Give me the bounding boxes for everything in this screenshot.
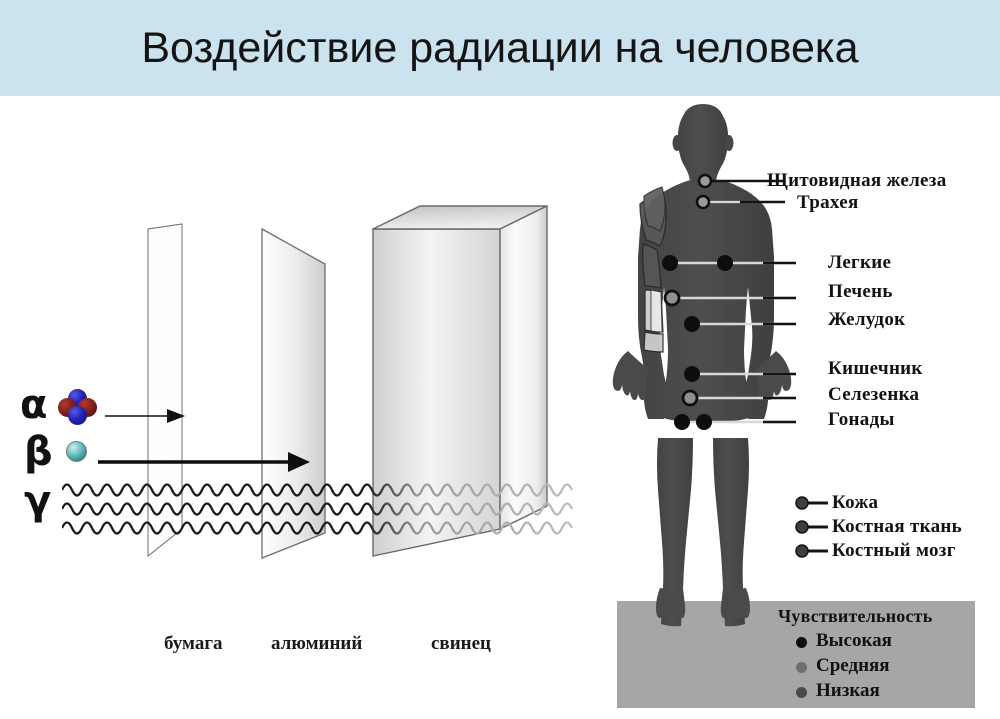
slide-root: Воздействие радиации на человека — [0, 0, 1000, 719]
alpha-arrow-icon — [105, 404, 195, 428]
barrier-label-paper: бумага — [164, 633, 222, 655]
tissue-label-bone: Костная ткань — [832, 516, 962, 538]
body-sensitivity-diagram: Щитовидная железа Трахея Легкие Печень Ж… — [600, 96, 1000, 719]
beta-arrow-icon — [98, 449, 318, 475]
organ-label-thyroid: Щитовидная железа — [767, 170, 947, 192]
organ-label-intestine: Кишечник — [828, 358, 923, 380]
organ-label-gonads: Гонады — [828, 409, 895, 431]
organ-label-lungs: Легкие — [828, 252, 891, 274]
barrier-label-aluminium: алюминий — [271, 633, 362, 655]
gamma-symbol: γ — [24, 481, 51, 521]
legend-dot-low — [796, 687, 807, 698]
tissue-label-skin: Кожа — [832, 492, 878, 514]
organ-label-stomach: Желудок — [828, 309, 905, 331]
legend-title: Чувствительность — [778, 606, 932, 627]
beta-symbol: β — [24, 432, 53, 472]
tissue-marker-bone — [796, 521, 828, 533]
legend-dot-medium — [796, 662, 807, 673]
tissue-label-marrow: Костный мозг — [832, 540, 956, 562]
organ-label-trachea: Трахея — [797, 192, 859, 214]
radiation-penetration-diagram: α β γ — [0, 96, 600, 719]
proton-sphere — [68, 406, 87, 425]
page-title: Воздействие радиации на человека — [0, 0, 1000, 96]
legend-dot-high — [796, 637, 807, 648]
alpha-particle-icon — [58, 389, 98, 429]
organ-label-spleen: Селезенка — [828, 384, 919, 406]
beta-particle-icon — [66, 441, 87, 462]
legend-label-medium: Средняя — [816, 655, 890, 677]
organ-label-liver: Печень — [828, 281, 893, 303]
legend-label-low: Низкая — [816, 680, 880, 702]
barrier-label-lead: свинец — [431, 633, 491, 655]
tissue-marker-marrow — [796, 545, 828, 557]
title-bar: Воздействие радиации на человека — [0, 0, 1000, 96]
alpha-symbol: α — [20, 385, 47, 425]
legend-label-high: Высокая — [816, 630, 892, 652]
tissue-marker-skin — [796, 497, 828, 509]
gamma-wave-icon — [62, 478, 582, 540]
